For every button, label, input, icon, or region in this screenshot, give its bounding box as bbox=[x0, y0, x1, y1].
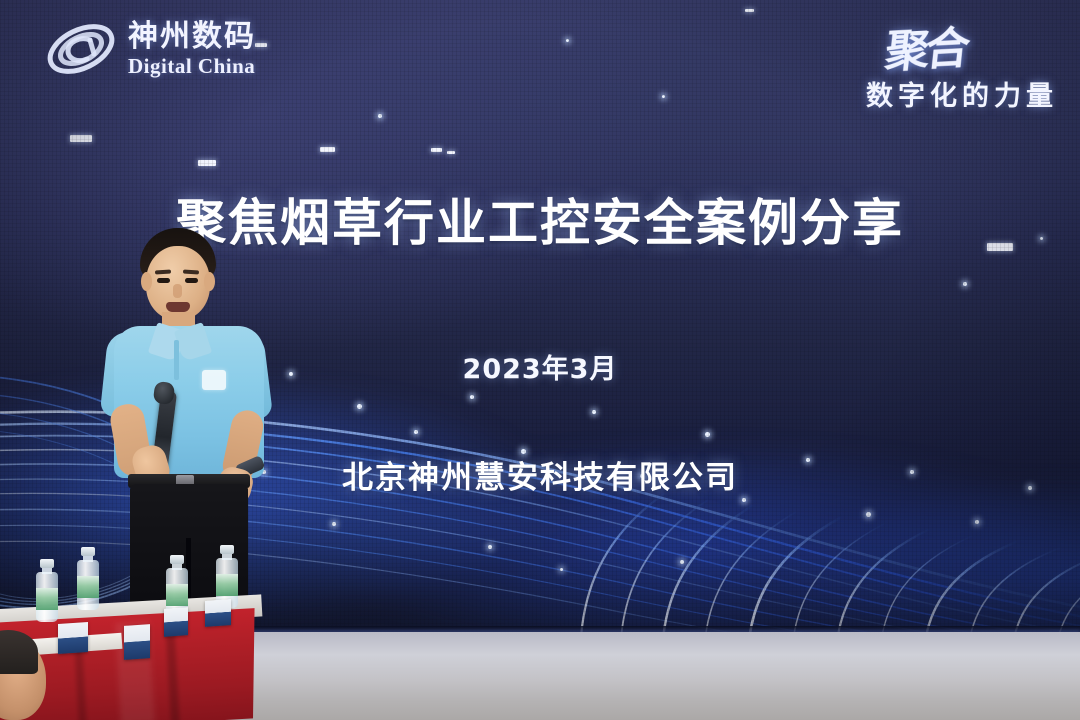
speaker-eye-left bbox=[157, 278, 170, 283]
name-card bbox=[124, 624, 150, 660]
logo-cn-text: 神州数码 bbox=[128, 22, 256, 52]
speaker-eye-right bbox=[185, 278, 198, 283]
speaker-mouth bbox=[166, 302, 190, 312]
logo-en-text: Digital China bbox=[128, 56, 256, 77]
speaker-ear-left bbox=[141, 272, 152, 291]
digital-china-swirl-logo-icon bbox=[44, 18, 118, 80]
water-bottle bbox=[36, 560, 58, 622]
speaker-ear-right bbox=[204, 272, 215, 291]
water-bottle bbox=[77, 548, 99, 610]
brand-script-text: 聚合 bbox=[882, 12, 969, 80]
polo-chest-logo-icon bbox=[202, 370, 226, 390]
name-card bbox=[164, 607, 188, 637]
event-brand-mark: 聚合 数字化的力量 bbox=[866, 14, 1058, 113]
brand-tagline-text: 数字化的力量 bbox=[866, 74, 1058, 113]
name-card bbox=[58, 622, 88, 654]
stage-photo: 神州数码 Digital China 聚合 数字化的力量 聚焦烟草行业工控安全案… bbox=[0, 0, 1080, 720]
digital-china-logo: 神州数码 Digital China bbox=[44, 18, 256, 80]
speaker-shirt-placket bbox=[174, 340, 179, 380]
speaker-person bbox=[96, 228, 281, 632]
name-card bbox=[205, 599, 231, 627]
speaker-nose bbox=[173, 284, 182, 298]
